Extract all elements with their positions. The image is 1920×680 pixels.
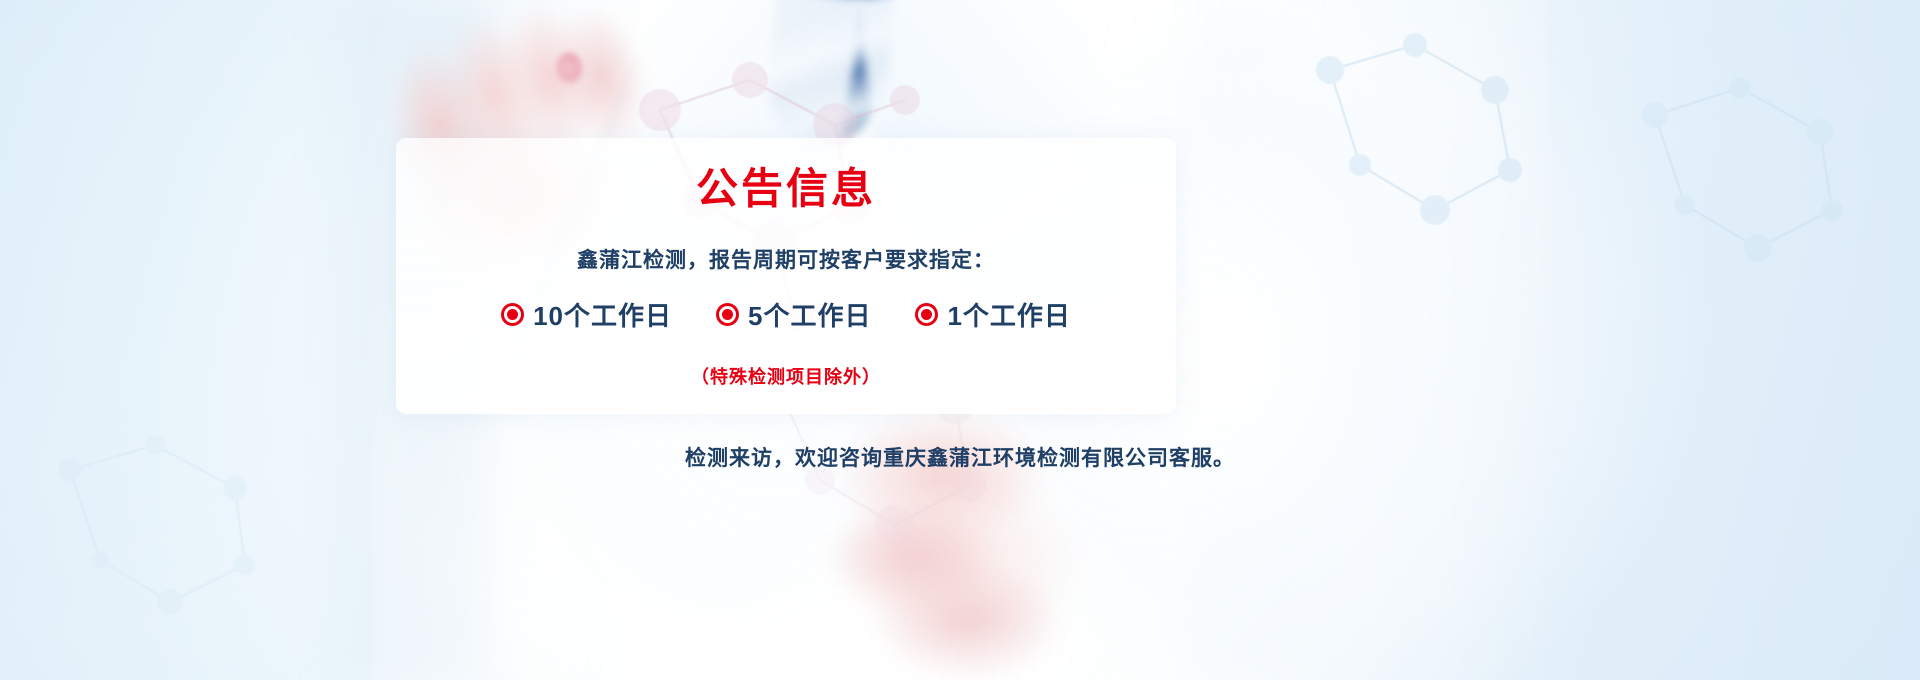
option-label: 1个工作日 [947, 296, 1070, 333]
option-label: 10个工作日 [533, 296, 672, 333]
announcement-card: 公告信息 鑫蒲江检测，报告周期可按客户要求指定： 10个工作日 5个工作日 1个… [396, 138, 1176, 414]
radio-selected-icon[interactable] [501, 303, 524, 326]
contact-footer-text: 检测来访，欢迎咨询重庆鑫蒲江环境检测有限公司客服。 [0, 442, 1920, 472]
molecule-icon [1290, 20, 1580, 280]
radio-selected-icon[interactable] [716, 303, 739, 326]
page-title: 公告信息 [396, 138, 1176, 214]
card-subtitle: 鑫蒲江检测，报告周期可按客户要求指定： [396, 214, 1176, 274]
option-10-working-days[interactable]: 10个工作日 [501, 296, 672, 333]
exclusion-note: （特殊检测项目除外） [396, 333, 1176, 389]
announcement-banner: 公告信息 鑫蒲江检测，报告周期可按客户要求指定： 10个工作日 5个工作日 1个… [0, 0, 1920, 680]
option-1-working-day[interactable]: 1个工作日 [915, 296, 1070, 333]
option-label: 5个工作日 [748, 296, 871, 333]
option-5-working-days[interactable]: 5个工作日 [716, 296, 871, 333]
turnaround-options: 10个工作日 5个工作日 1个工作日 [396, 274, 1176, 333]
molecule-icon [1620, 60, 1890, 310]
radio-selected-icon[interactable] [915, 303, 938, 326]
